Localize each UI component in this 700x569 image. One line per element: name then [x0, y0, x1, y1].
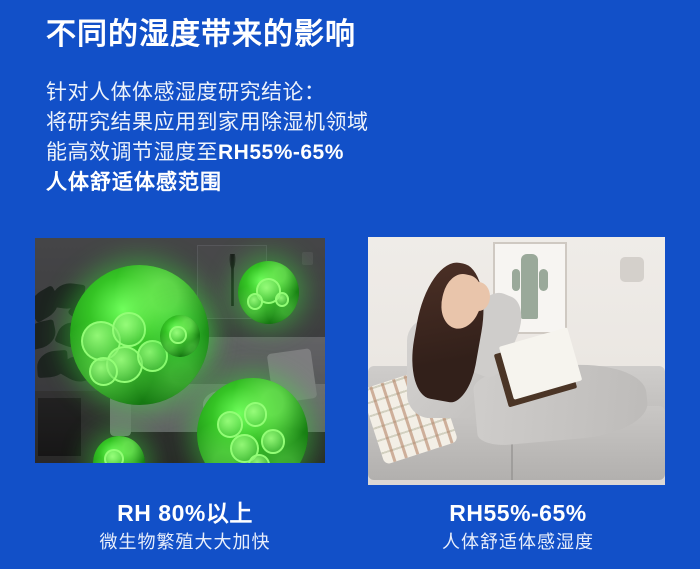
poster-root: 不同的湿度带来的影响 针对人体体感湿度研究结论： 将研究结果应用到家用除湿机领域… — [0, 0, 700, 569]
scene-bright-living-room — [368, 237, 665, 485]
body-copy-line-4: 人体舒适体感范围 — [46, 168, 369, 198]
body-copy-line-3-prefix: 能高效调节湿度至 — [46, 141, 218, 164]
caption-subtitle: 微生物繁殖大大加快 — [35, 528, 335, 556]
page-title: 不同的湿度带来的影响 — [46, 16, 356, 54]
caption-title: RH 80%以上 — [35, 498, 335, 528]
caption-subtitle: 人体舒适体感湿度 — [368, 528, 668, 556]
body-copy-line-2: 将研究结果应用到家用除湿机领域 — [46, 108, 369, 138]
microbe-bottom-icon — [93, 436, 145, 463]
photo-comfort-humidity — [368, 237, 665, 485]
scene-dark-living-room — [35, 238, 325, 463]
photo-high-humidity — [35, 238, 325, 463]
body-copy-line-3: 能高效调节湿度至RH55%-65% — [46, 138, 369, 168]
caption-high-humidity: RH 80%以上 微生物繁殖大大加快 — [35, 498, 335, 556]
woman-hand — [466, 282, 490, 312]
cactus-illustration — [521, 254, 538, 319]
thermostat-icon — [620, 257, 644, 282]
microbe-large-icon — [197, 378, 307, 464]
body-copy-line-1: 针对人体体感湿度研究结论： — [46, 78, 369, 108]
caption-title: RH55%-65% — [368, 498, 668, 528]
body-copy: 针对人体体感湿度研究结论： 将研究结果应用到家用除湿机领域 能高效调节湿度至RH… — [46, 78, 369, 198]
microbe-tiny-icon — [160, 315, 201, 358]
caption-comfort-humidity: RH55%-65% 人体舒适体感湿度 — [368, 498, 668, 556]
body-copy-line-3-highlight: RH55%-65% — [218, 141, 344, 164]
microbe-small-icon — [238, 261, 299, 324]
